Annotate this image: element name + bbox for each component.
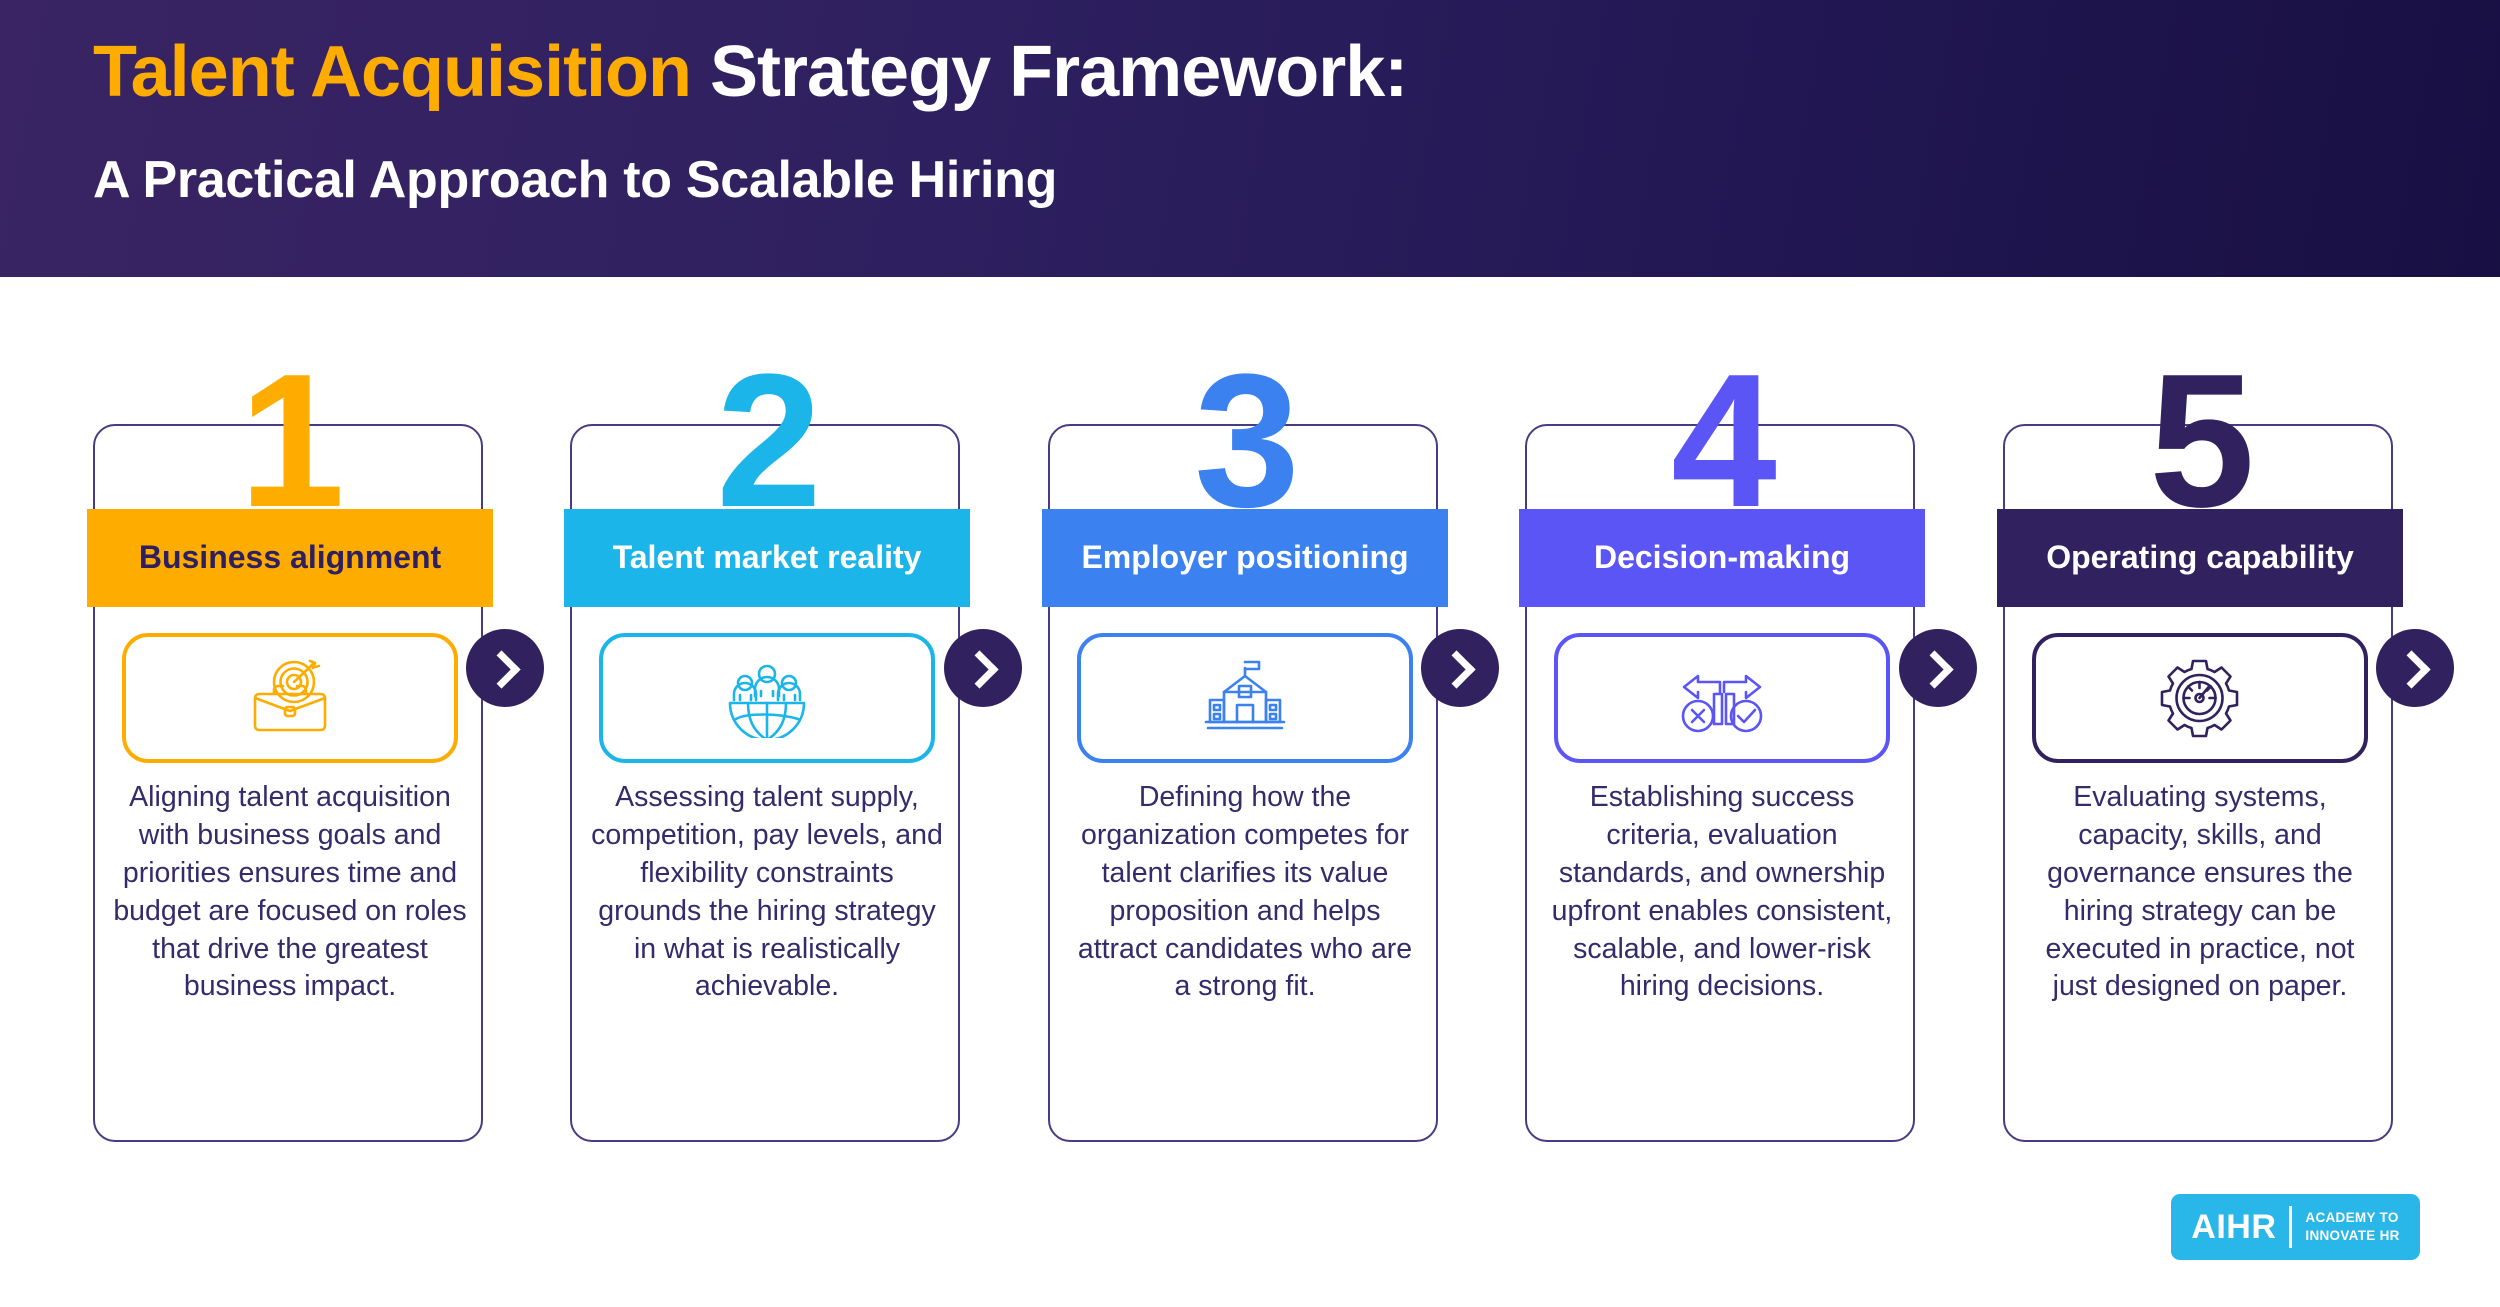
step-number-5: 5 <box>2005 346 2395 536</box>
step-title-banner-3: Employer positioning <box>1042 509 1448 607</box>
step-number-3: 3 <box>1050 346 1440 536</box>
step-description-1: Aligning talent acquisition with busines… <box>111 779 469 1006</box>
chevron-right-icon-5 <box>2376 629 2454 707</box>
gear-gauge-icon <box>2159 658 2241 738</box>
step-card-3[interactable]: 3 Employer positioning <box>1048 424 1438 1142</box>
step-card-1[interactable]: 1 Business alignment <box>93 424 483 1142</box>
page-title: Talent Acquisition Strategy Framework: <box>93 32 1407 113</box>
title-accent-text: Talent Acquisition <box>93 32 691 112</box>
step-number-4: 4 <box>1527 346 1917 536</box>
step-icon-box-3 <box>1077 633 1413 763</box>
step-title-banner-2: Talent market reality <box>564 509 970 607</box>
logo-tagline-line1: ACADEMY TO <box>2305 1209 2399 1227</box>
step-card-2[interactable]: 2 Talent market reality <box>570 424 960 1142</box>
page-subtitle: A Practical Approach to Scalable Hiring <box>93 150 1057 210</box>
step-number-2: 2 <box>572 346 962 536</box>
step-description-2: Assessing talent supply, competition, pa… <box>588 779 946 1006</box>
step-card-4[interactable]: 4 Decision-making Establishing <box>1525 424 1915 1142</box>
step-title-banner-1: Business alignment <box>87 509 493 607</box>
logo-tagline-line2: INNOVATE HR <box>2305 1227 2399 1245</box>
title-rest-text: Strategy Framework: <box>691 32 1407 112</box>
aihr-logo: AIHR ACADEMY TO INNOVATE HR <box>2171 1194 2420 1260</box>
step-icon-box-1 <box>122 633 458 763</box>
infographic-page: Talent Acquisition Strategy Framework: A… <box>0 0 2500 1307</box>
chevron-right-icon-3 <box>1421 629 1499 707</box>
step-title-banner-4: Decision-making <box>1519 509 1925 607</box>
step-description-3: Defining how the organization competes f… <box>1066 779 1424 1006</box>
step-card-5[interactable]: 5 Operating capability Evaluating system… <box>2003 424 2393 1142</box>
chevron-right-icon-2 <box>944 629 1022 707</box>
step-icon-box-5 <box>2032 633 2368 763</box>
steps-container: 1 Business alignment <box>0 277 2500 1307</box>
briefcase-target-icon <box>247 658 333 738</box>
step-icon-box-2 <box>599 633 935 763</box>
institution-building-icon <box>1202 658 1288 738</box>
header-banner: Talent Acquisition Strategy Framework: A… <box>0 0 2500 277</box>
chevron-right-icon-4 <box>1899 629 1977 707</box>
logo-tagline: ACADEMY TO INNOVATE HR <box>2292 1209 2399 1245</box>
logo-wordmark: AIHR <box>2191 1208 2289 1247</box>
step-icon-box-4 <box>1554 633 1890 763</box>
people-globe-icon <box>724 658 810 738</box>
chevron-right-icon-1 <box>466 629 544 707</box>
step-title-banner-5: Operating capability <box>1997 509 2403 607</box>
step-number-1: 1 <box>95 346 485 536</box>
step-description-5: Evaluating systems, capacity, skills, an… <box>2021 779 2379 1006</box>
decision-arrows-icon <box>1676 658 1768 738</box>
step-description-4: Establishing success criteria, evaluatio… <box>1543 779 1901 1006</box>
